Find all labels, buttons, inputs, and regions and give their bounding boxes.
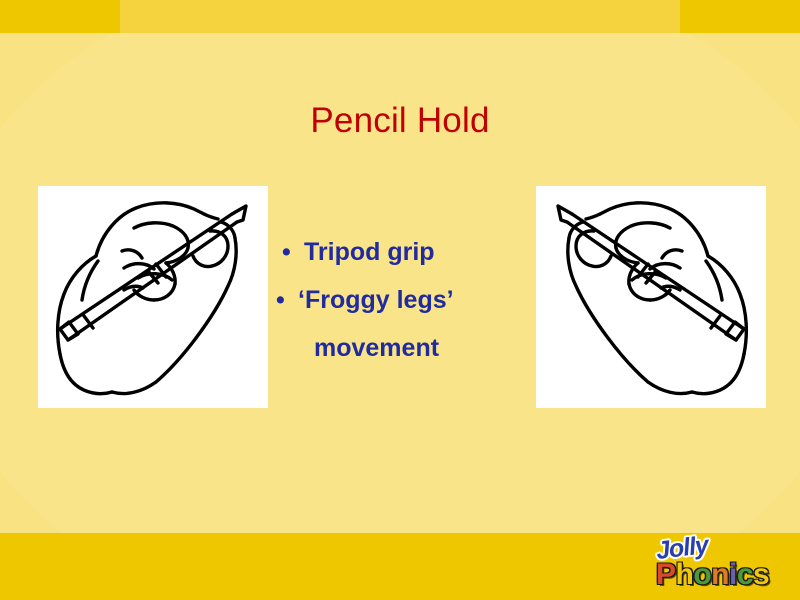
hand-pencil-drawing-icon bbox=[38, 186, 268, 408]
bullet-item-3: movement bbox=[276, 324, 536, 372]
top-band bbox=[0, 0, 800, 33]
pencil-hold-image-left bbox=[38, 186, 268, 408]
bullet-marker-icon: • bbox=[282, 228, 304, 276]
hand-pencil-drawing-mirrored-icon bbox=[536, 186, 766, 408]
slide-canvas: Pencil Hold bbox=[0, 0, 800, 600]
logo-letter-3: n bbox=[711, 558, 729, 591]
bullet-item-2: • ‘Froggy legs’ bbox=[276, 276, 536, 324]
logo-letter-6: s bbox=[753, 558, 769, 591]
bullet-marker-icon: • bbox=[276, 276, 298, 324]
pencil-hold-image-right bbox=[536, 186, 766, 408]
bullet-text-2: ‘Froggy legs’ bbox=[298, 276, 454, 324]
bullet-text-3: movement bbox=[314, 324, 439, 372]
bullet-item-1: • Tripod grip bbox=[276, 228, 536, 276]
bullet-text-1: Tripod grip bbox=[304, 228, 435, 276]
logo-letter-2: o bbox=[693, 558, 711, 591]
jolly-phonics-logo: Jolly Phonics bbox=[650, 534, 800, 596]
slide-title: Pencil Hold bbox=[0, 100, 800, 142]
logo-letter-4: i bbox=[729, 558, 737, 591]
top-band-highlight bbox=[120, 0, 680, 33]
bullet-list: • Tripod grip • ‘Froggy legs’ movement bbox=[276, 228, 536, 372]
logo-letter-5: c bbox=[737, 558, 753, 591]
